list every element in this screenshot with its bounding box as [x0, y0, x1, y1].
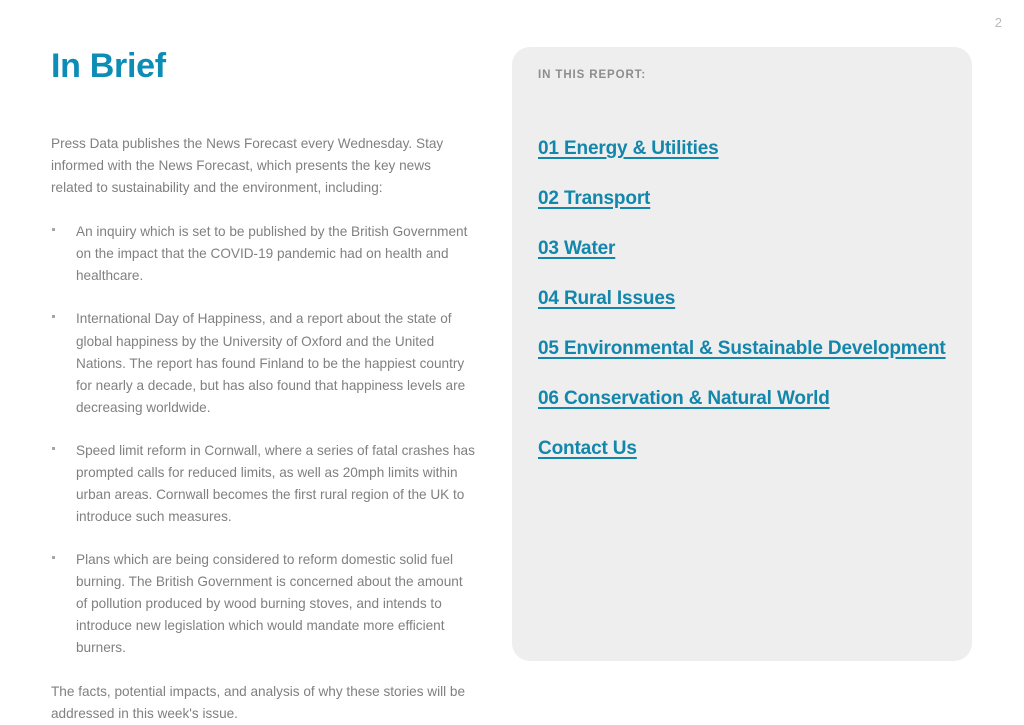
report-link-conservation-natural-world[interactable]: 06 Conservation & Natural World: [538, 388, 830, 409]
panel-label: IN THIS REPORT:: [538, 69, 946, 81]
bullet-marker-icon: [52, 447, 55, 450]
document-page: 2 In Brief Press Data publishes the News…: [0, 0, 1024, 709]
report-link-environmental-sustainable-development[interactable]: 05 Environmental & Sustainable Developme…: [538, 338, 946, 359]
list-item: International Day of Happiness, and a re…: [51, 308, 476, 418]
list-item: Plans which are being considered to refo…: [51, 549, 476, 659]
list-item: 06 Conservation & Natural World: [538, 387, 946, 411]
report-link-contact-us[interactable]: Contact Us: [538, 438, 637, 459]
list-item-text: International Day of Happiness, and a re…: [76, 311, 465, 414]
bullet-marker-icon: [52, 556, 55, 559]
intro-paragraph: Press Data publishes the News Forecast e…: [51, 133, 476, 199]
list-item: 01 Energy & Utilities: [538, 137, 946, 161]
bullet-marker-icon: [52, 228, 55, 231]
list-item: 05 Environmental & Sustainable Developme…: [538, 337, 946, 361]
page-title: In Brief: [51, 48, 476, 85]
report-link-list: 01 Energy & Utilities 02 Transport 03 Wa…: [538, 137, 946, 461]
left-content-column: In Brief Press Data publishes the News F…: [51, 48, 476, 725]
list-item: An inquiry which is set to be published …: [51, 221, 476, 287]
list-item-text: Plans which are being considered to refo…: [76, 552, 463, 655]
report-link-rural-issues[interactable]: 04 Rural Issues: [538, 288, 675, 309]
report-link-energy-utilities[interactable]: 01 Energy & Utilities: [538, 138, 719, 159]
list-item-text: Speed limit reform in Cornwall, where a …: [76, 443, 475, 524]
list-item: 03 Water: [538, 237, 946, 261]
report-link-transport[interactable]: 02 Transport: [538, 188, 650, 209]
outro-paragraph: The facts, potential impacts, and analys…: [51, 681, 476, 725]
news-bullet-list: An inquiry which is set to be published …: [51, 221, 476, 658]
page-number: 2: [995, 15, 1002, 30]
list-item: Speed limit reform in Cornwall, where a …: [51, 440, 476, 528]
list-item-text: An inquiry which is set to be published …: [76, 224, 467, 283]
in-this-report-panel: IN THIS REPORT: 01 Energy & Utilities 02…: [512, 47, 972, 661]
list-item: Contact Us: [538, 437, 946, 461]
bullet-marker-icon: [52, 315, 55, 318]
report-link-water[interactable]: 03 Water: [538, 238, 615, 259]
list-item: 02 Transport: [538, 187, 946, 211]
list-item: 04 Rural Issues: [538, 287, 946, 311]
